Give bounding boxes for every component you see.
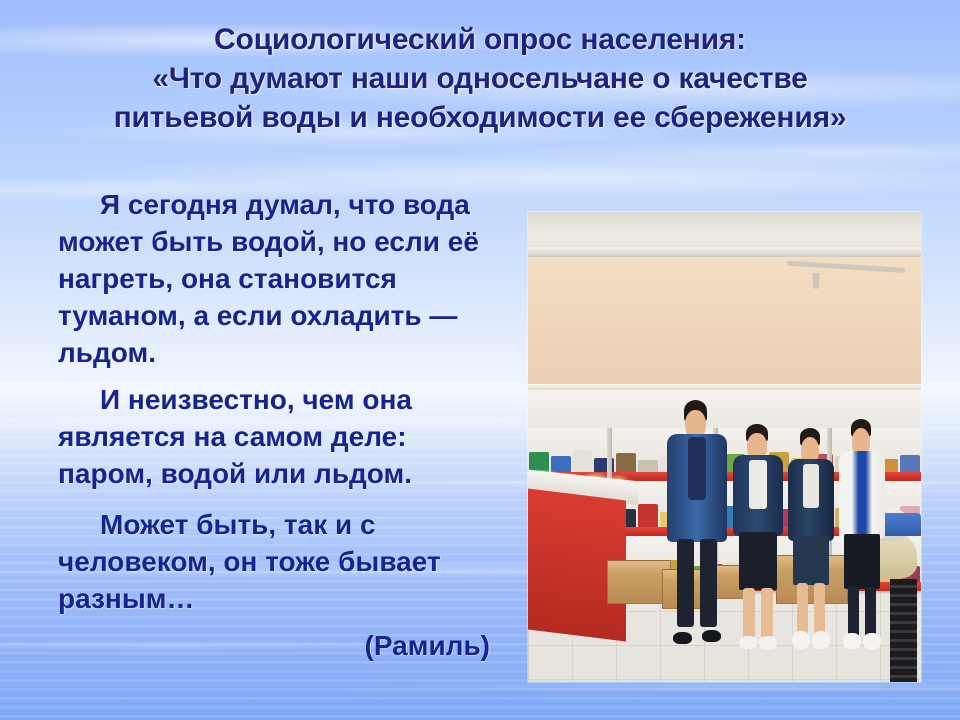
title-line-2: «Что думают наши односельчане о качестве bbox=[26, 59, 934, 98]
quote-paragraph-1: Я сегодня думал, что вода может быть вод… bbox=[58, 186, 508, 371]
photo-rail-hook bbox=[813, 273, 819, 289]
photo-frame bbox=[528, 212, 921, 682]
quote-paragraph-2: И неизвестно, чем она является на самом … bbox=[58, 381, 508, 492]
quote-text-block: Я сегодня думал, что вода может быть вод… bbox=[58, 186, 508, 664]
photo-upper-wall bbox=[528, 257, 921, 389]
shop-photograph bbox=[528, 212, 921, 682]
quote-attribution: (Рамиль) bbox=[58, 627, 508, 664]
photo-person-girl-3 bbox=[831, 419, 894, 649]
quote-paragraph-3: Может быть, так и с человеком, он тоже б… bbox=[58, 506, 508, 617]
photo-black-rack bbox=[890, 579, 918, 682]
slide-title: Социологический опрос населения: «Что ду… bbox=[26, 20, 934, 137]
photo-ceiling-strip bbox=[528, 247, 921, 257]
slide-canvas: Социологический опрос населения: «Что ду… bbox=[0, 0, 960, 720]
title-line-3: питьевой воды и необходимости ее сбереже… bbox=[26, 98, 934, 137]
title-line-1: Социологический опрос населения: bbox=[26, 20, 934, 59]
